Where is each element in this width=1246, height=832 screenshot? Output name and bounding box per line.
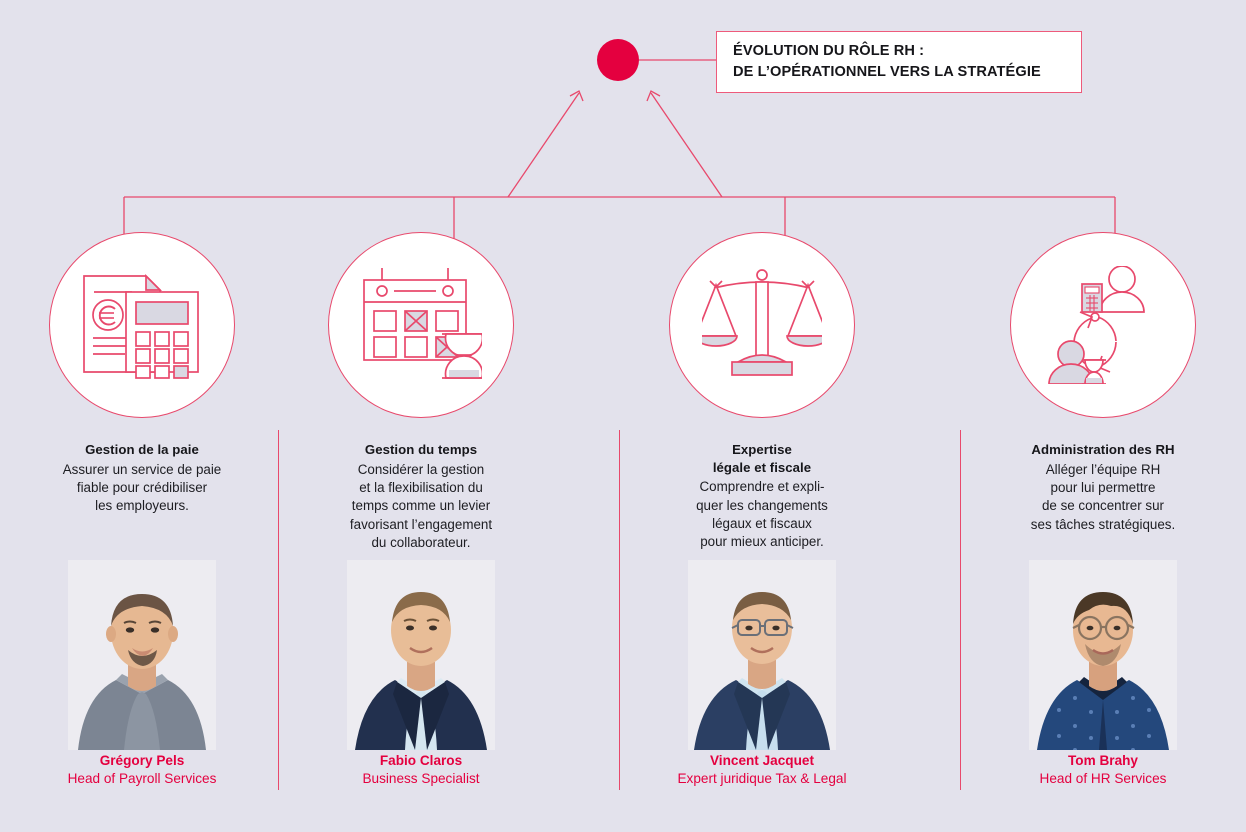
column-heading-legal: Expertise légale et fiscale <box>622 441 902 476</box>
column-administration-des-rh: Administration des RH Alléger l’équipe R… <box>963 232 1243 534</box>
person-block-tom: Tom Brahy Head of HR Services <box>963 752 1243 788</box>
arrow-head-right <box>647 91 660 101</box>
body-line: favorisant l’engagement <box>281 516 561 534</box>
body-line: pour mieux anticiper. <box>622 533 902 551</box>
icon-circle-time <box>328 232 514 418</box>
calendar-hourglass-icon <box>360 266 482 384</box>
body-line: ses tâches stratégiques. <box>963 516 1243 534</box>
person-name: Grégory Pels <box>2 752 282 770</box>
column-expertise-legale-fiscale: Expertise légale et fiscale Comprendre e… <box>622 232 902 552</box>
connector-arrow-left-shaft <box>508 93 579 197</box>
column-heading-legal-line-2: légale et fiscale <box>622 459 902 477</box>
column-heading-hr-admin: Administration des RH <box>963 441 1243 459</box>
column-heading-payroll: Gestion de la paie <box>2 441 282 459</box>
column-body-payroll: Assurer un service de paie fiable pour c… <box>2 461 282 516</box>
body-line: Comprendre et expli- <box>622 478 902 496</box>
payslip-calculator-icon <box>80 266 204 384</box>
avatar <box>68 560 216 750</box>
page-title-line-1: ÉVOLUTION DU RÔLE RH : <box>733 41 1069 62</box>
person-name: Tom Brahy <box>963 752 1243 770</box>
avatar <box>347 560 495 750</box>
photo-wrap-tom <box>963 560 1243 750</box>
column-divider-3 <box>960 430 961 790</box>
connector-arrow-right-shaft <box>651 93 722 197</box>
arrow-head-left <box>570 91 583 101</box>
body-line: et la flexibilisation du <box>281 479 561 497</box>
portrait-tom-brahy <box>1029 560 1177 750</box>
body-line: de se concentrer sur <box>963 497 1243 515</box>
person-block-vincent: Vincent Jacquet Expert juridique Tax & L… <box>622 752 902 788</box>
main-title-box: ÉVOLUTION DU RÔLE RH : DE L’OPÉRATIONNEL… <box>716 31 1082 93</box>
scales-of-justice-icon <box>702 266 822 384</box>
red-dot-node <box>597 39 639 81</box>
person-role: Business Specialist <box>281 770 561 788</box>
page-title-line-2: DE L’OPÉRATIONNEL VERS LA STRATÉGIE <box>733 62 1069 83</box>
person-role: Expert juridique Tax & Legal <box>622 770 902 788</box>
body-line: Considérer la gestion <box>281 461 561 479</box>
body-line: Alléger l’équipe RH <box>963 461 1243 479</box>
icon-circle-legal <box>669 232 855 418</box>
body-line: légaux et fiscaux <box>622 515 902 533</box>
body-line: quer les changements <box>622 497 902 515</box>
body-line: Assurer un service de paie <box>2 461 282 479</box>
portrait-gregory-pels <box>68 560 216 750</box>
portrait-fabio-claros <box>347 560 495 750</box>
person-block-gregory: Grégory Pels Head of Payroll Services <box>2 752 282 788</box>
column-heading-legal-line-1: Expertise <box>622 441 902 459</box>
column-body-legal: Comprendre et expli- quer les changement… <box>622 478 902 551</box>
person-role: Head of Payroll Services <box>2 770 282 788</box>
person-name: Fabio Claros <box>281 752 561 770</box>
column-heading-time: Gestion du temps <box>281 441 561 459</box>
column-gestion-de-la-paie: Gestion de la paie Assurer un service de… <box>2 232 282 516</box>
body-line: temps comme un levier <box>281 497 561 515</box>
column-body-hr-admin: Alléger l’équipe RH pour lui permettre d… <box>963 461 1243 534</box>
column-body-time: Considérer la gestion et la flexibilisat… <box>281 461 561 553</box>
column-gestion-du-temps: Gestion du temps Considérer la gestion e… <box>281 232 561 552</box>
body-line: du collaborateur. <box>281 534 561 552</box>
column-divider-2 <box>619 430 620 790</box>
icon-circle-hr-admin <box>1010 232 1196 418</box>
infographic-canvas: ÉVOLUTION DU RÔLE RH : DE L’OPÉRATIONNEL… <box>0 0 1246 832</box>
portrait-vincent-jacquet <box>688 560 836 750</box>
person-block-fabio: Fabio Claros Business Specialist <box>281 752 561 788</box>
avatar <box>688 560 836 750</box>
photo-wrap-fabio <box>281 560 561 750</box>
people-exchange-icon <box>1044 266 1162 384</box>
icon-circle-payroll <box>49 232 235 418</box>
body-line: fiable pour crédibiliser <box>2 479 282 497</box>
photo-wrap-vincent <box>622 560 902 750</box>
avatar <box>1029 560 1177 750</box>
body-line: les employeurs. <box>2 497 282 515</box>
photo-wrap-gregory <box>2 560 282 750</box>
person-name: Vincent Jacquet <box>622 752 902 770</box>
person-role: Head of HR Services <box>963 770 1243 788</box>
body-line: pour lui permettre <box>963 479 1243 497</box>
